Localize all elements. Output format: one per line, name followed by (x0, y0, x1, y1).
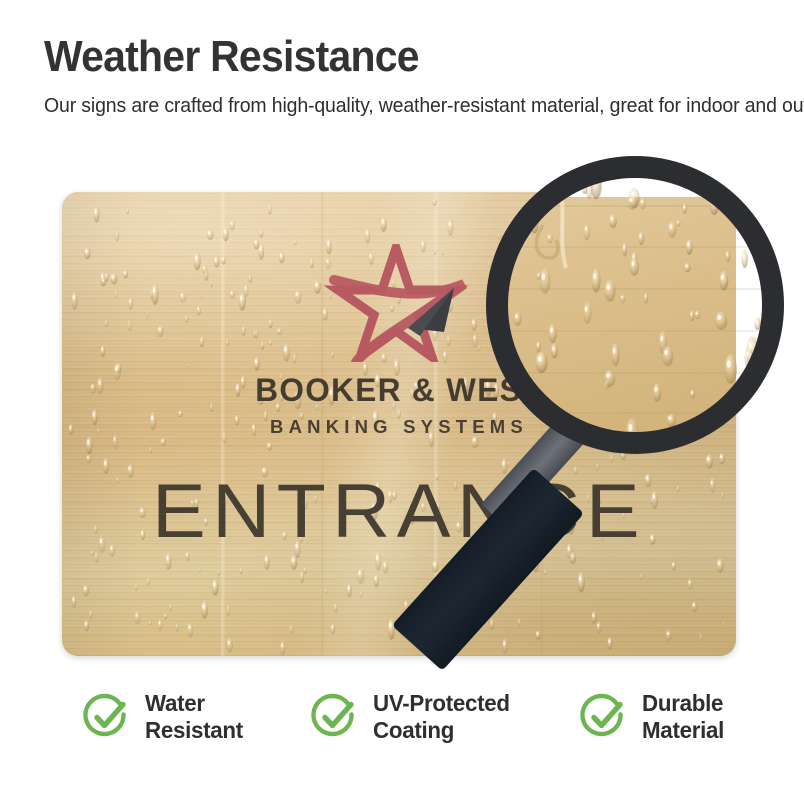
sign-brand-name: BOOKER & WEST (72, 372, 726, 409)
feature-list: Water Resistant UV-Protected Coating Dur… (0, 690, 804, 745)
feature-label: Water Resistant (145, 690, 243, 745)
sign-brand-tagline: BANKING SYSTEMS (62, 416, 736, 438)
sign-preview: BOOKER & WEST BANKING SYSTEMS ENTRANCE (62, 192, 736, 656)
feature-label: Durable Material (642, 690, 724, 745)
feature-label: UV-Protected Coating (373, 690, 510, 745)
star-logo-icon (304, 244, 494, 362)
feature-item-uv-protected-coating: UV-Protected Coating (310, 690, 517, 745)
check-circle-icon (579, 692, 629, 742)
page-title: Weather Resistance (44, 34, 676, 81)
check-circle-icon (82, 692, 132, 742)
sign-logo-block: BOOKER & WEST BANKING SYSTEMS (62, 244, 736, 438)
page-subtitle: Our signs are crafted from high-quality,… (44, 92, 690, 119)
feature-item-durable-material: Durable Material (579, 690, 728, 745)
feature-item-water-resistant: Water Resistant (82, 690, 248, 745)
check-circle-icon (310, 692, 360, 742)
sign-main-word: ENTRANCE (62, 468, 736, 555)
product-feature-card: Weather Resistance Our signs are crafted… (0, 0, 804, 804)
sign-plaque: BOOKER & WEST BANKING SYSTEMS ENTRANCE (62, 192, 736, 656)
header-block: Weather Resistance Our signs are crafted… (44, 34, 724, 119)
